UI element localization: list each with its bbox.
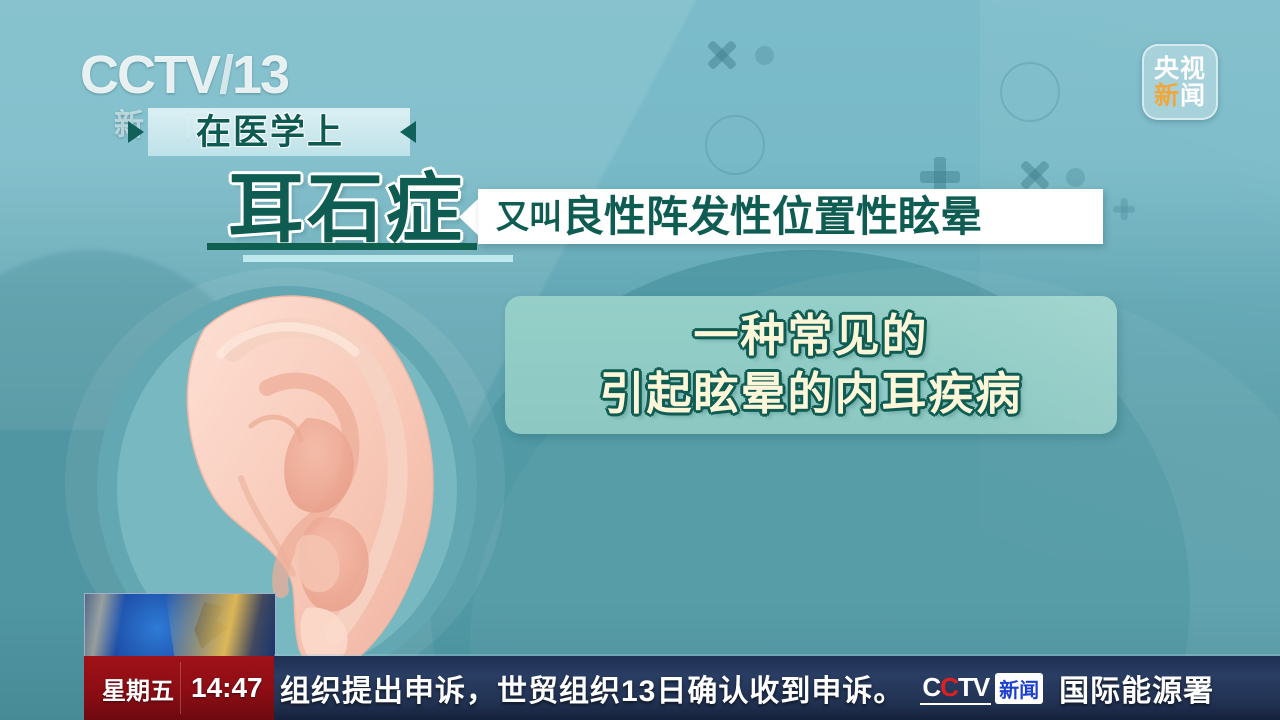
badge-line-1: 央视 [1154, 56, 1206, 82]
badge-line-2: 新闻 [1154, 83, 1206, 109]
arrow-left-icon [400, 121, 416, 143]
definition-banner-prefix: 又叫 [496, 197, 562, 237]
definition-banner-main: 良性阵发性位置性眩晕 [562, 193, 982, 241]
program-thumbnail [84, 593, 276, 658]
title-underline-dark [207, 243, 477, 250]
description-line-2: 引起眩晕的内耳疾病 [505, 368, 1117, 420]
subtitle-band: 在医学上 [148, 108, 410, 156]
clock-time: 14:47 [191, 672, 263, 704]
x-decoration-icon-2 [1018, 158, 1052, 192]
ring-decoration-icon-2 [1000, 62, 1060, 122]
badge-highlight-char: 新 [1154, 82, 1180, 110]
badge-rest-char: 闻 [1180, 82, 1206, 110]
clock-bar: 星期五 14:47 [84, 656, 274, 720]
ticker-headline: 组织提出申诉，世贸组织13日确认收到申诉。 [280, 666, 904, 710]
news-ticker: 组织提出申诉，世贸组织13日确认收到申诉。 CCTV 新闻 国际能源署 [274, 656, 1280, 720]
description-line-1: 一种常见的 [505, 310, 1117, 362]
broadcast-screen: CCTV/13 新 闻 央视 新闻 在医学上 耳石症 又叫 良性阵发性位置性眩晕… [0, 0, 1280, 720]
channel-logo-text: CCTV/13 [80, 48, 330, 102]
thumbnail-light-swoosh [84, 594, 180, 657]
subtitle-band-label: 在医学上 [196, 111, 344, 155]
ticker-cctv-news-logo: CCTV 新闻 [920, 672, 1043, 705]
ticker-headline-2: 国际能源署 [1059, 666, 1214, 710]
ring-decoration-icon [705, 115, 765, 175]
arrow-right-icon [128, 121, 144, 143]
x-decoration-icon [705, 38, 739, 72]
definition-banner: 又叫 良性阵发性位置性眩晕 [478, 189, 1103, 244]
cctv-news-badge: 央视 新闻 [1142, 44, 1218, 120]
plus-decoration-icon-2 [1113, 198, 1135, 220]
ticker-cctv-text: CCTV [920, 672, 991, 705]
clock-divider [180, 662, 181, 714]
thumbnail-gold-swoosh [165, 593, 276, 658]
dot-decoration-icon-2 [1066, 168, 1085, 187]
ticker-xinwen-text: 新闻 [995, 673, 1043, 704]
weekday-label: 星期五 [102, 671, 174, 706]
dot-decoration-icon [755, 46, 774, 65]
title-underline-light [243, 255, 513, 262]
description-panel: 一种常见的 引起眩晕的内耳疾病 [505, 296, 1117, 434]
page-title: 耳石症 [228, 168, 465, 252]
